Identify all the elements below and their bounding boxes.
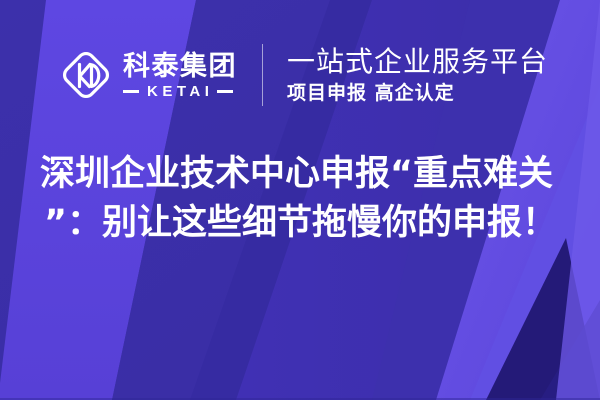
brand-wordmark: 科泰集团 KETAI [123, 52, 237, 99]
promo-banner: 科泰集团 KETAI 一站式企业服务平台 项目申报 高企认定 深圳企业技术中心申… [0, 0, 600, 400]
wordmark-rule-right [217, 90, 233, 93]
headline-line-1: 深圳企业技术中心申报“重点难关 [40, 150, 564, 199]
banner-header: 科泰集团 KETAI 一站式企业服务平台 项目申报 高企认定 [0, 38, 600, 112]
headline-line-2: ”：别让这些细节拖慢你的申报！ [40, 199, 564, 248]
tagline-main: 一站式企业服务平台 [287, 45, 548, 79]
brand-logo[interactable]: 科泰集团 KETAI [60, 49, 237, 101]
wordmark-rule-left [123, 90, 139, 93]
tagline-sub: 项目申报 高企认定 [287, 81, 548, 106]
brand-name-en-row: KETAI [123, 84, 237, 99]
ketai-diamond-monogram-logo [60, 49, 112, 101]
headline: 深圳企业技术中心申报“重点难关 ”：别让这些细节拖慢你的申报！ [40, 150, 564, 248]
brand-name-cn: 科泰集团 [123, 52, 237, 81]
tagline-block: 一站式企业服务平台 项目申报 高企认定 [287, 45, 548, 106]
brand-name-en: KETAI [145, 84, 213, 99]
header-divider [262, 44, 263, 106]
